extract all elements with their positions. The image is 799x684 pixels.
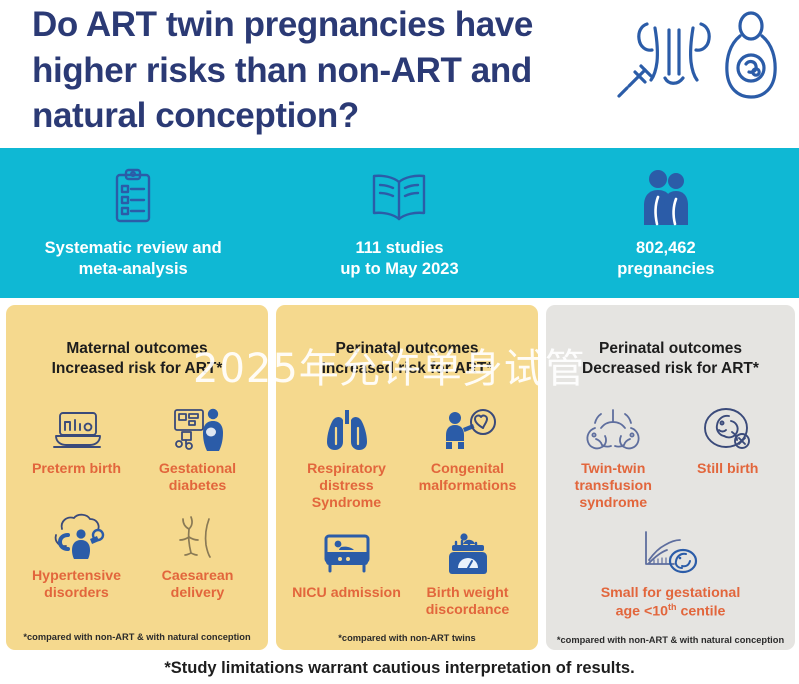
item-label: Caesarean delivery bbox=[162, 568, 234, 602]
caesarean-scar-icon bbox=[173, 509, 223, 559]
item-nicu-admission: NICU admission bbox=[286, 526, 407, 619]
open-book-icon bbox=[368, 166, 430, 228]
uterus-syringe-icon bbox=[619, 24, 709, 96]
footer-disclaimer: *Study limitations warrant cautious inte… bbox=[164, 659, 634, 678]
embryo-icon bbox=[727, 13, 775, 97]
outcome-panels: Maternal outcomes Increased risk for ART… bbox=[0, 305, 799, 650]
panel-title: Maternal outcomes Increased risk for ART… bbox=[16, 339, 258, 380]
item-label: Still birth bbox=[697, 461, 758, 478]
item-label: Twin-twin transfusion syndrome bbox=[575, 461, 652, 512]
header: Do ART twin pregnancies have higher risk… bbox=[0, 0, 799, 145]
item-label: Preterm birth bbox=[32, 461, 121, 478]
item-small-for-gestational-age: Small for gestational age <10th centile bbox=[556, 526, 785, 621]
stat-label: 802,462 pregnancies bbox=[617, 238, 714, 279]
twin-fetuses-placenta-icon bbox=[581, 402, 645, 452]
item-label: Congenital malformations bbox=[419, 461, 517, 495]
clipboard-checklist-icon bbox=[109, 166, 157, 228]
blood-pressure-pregnant-woman-icon bbox=[48, 509, 106, 559]
stat-studies-count: 111 studies up to May 2023 bbox=[266, 148, 532, 279]
glucose-monitor-pregnant-woman-icon bbox=[171, 402, 225, 452]
page-title: Do ART twin pregnancies have higher risk… bbox=[32, 2, 602, 139]
lungs-icon bbox=[321, 402, 373, 452]
stat-label: 111 studies up to May 2023 bbox=[340, 238, 458, 279]
baby-scale-icon bbox=[442, 526, 494, 576]
two-people-icon bbox=[638, 166, 694, 228]
item-birth-weight-discordance: Birth weight discordance bbox=[407, 526, 528, 619]
item-still-birth: Still birth bbox=[671, 402, 786, 512]
item-label: Small for gestational age <10th centile bbox=[601, 585, 741, 621]
stat-pregnancies-count: 802,462 pregnancies bbox=[533, 148, 799, 279]
panel-items: Preterm birth bbox=[16, 402, 258, 632]
nicu-incubator-icon bbox=[320, 526, 374, 576]
item-label: NICU admission bbox=[292, 585, 401, 602]
panel-title: Perinatal outcomes Increased risk for AR… bbox=[286, 339, 528, 380]
item-twin-twin-transfusion-syndrome: Twin-twin transfusion syndrome bbox=[556, 402, 671, 512]
footer: *Study limitations warrant cautious inte… bbox=[0, 652, 799, 684]
panel-footnote: *compared with non-ART & with natural co… bbox=[16, 632, 258, 650]
item-label: Birth weight discordance bbox=[426, 585, 510, 619]
panel-perinatal-increased: Perinatal outcomes Increased risk for AR… bbox=[276, 305, 538, 650]
item-hypertensive-disorders: Hypertensive disorders bbox=[16, 509, 137, 602]
item-gestational-diabetes: Gestational diabetes bbox=[137, 402, 258, 495]
panel-title: Perinatal outcomes Decreased risk for AR… bbox=[556, 339, 785, 380]
infographic-page: Do ART twin pregnancies have higher risk… bbox=[0, 0, 799, 684]
item-caesarean-delivery: Caesarean delivery bbox=[137, 509, 258, 602]
stillbirth-fetus-x-icon bbox=[702, 402, 754, 452]
panel-footnote: *compared with non-ART twins bbox=[286, 633, 528, 651]
item-label: Hypertensive disorders bbox=[32, 568, 121, 602]
panel-footnote: *compared with non-ART & with natural co… bbox=[556, 635, 785, 653]
item-congenital-malformations: Congenital malformations bbox=[407, 402, 528, 512]
header-icon-group bbox=[605, 8, 785, 103]
item-label: Respiratory distress Syndrome bbox=[286, 461, 407, 512]
baby-heart-icon bbox=[439, 402, 497, 452]
item-respiratory-distress-syndrome: Respiratory distress Syndrome bbox=[286, 402, 407, 512]
panel-items: Respiratory distress Syndrome bbox=[286, 402, 528, 633]
panel-maternal-increased: Maternal outcomes Increased risk for ART… bbox=[6, 305, 268, 650]
growth-chart-fetus-icon bbox=[638, 526, 704, 576]
stat-label: Systematic review and meta-analysis bbox=[45, 238, 222, 279]
incubator-icon bbox=[51, 402, 103, 452]
stats-band: Systematic review and meta-analysis 111 … bbox=[0, 148, 799, 298]
item-preterm-birth: Preterm birth bbox=[16, 402, 137, 495]
panel-perinatal-decreased: Perinatal outcomes Decreased risk for AR… bbox=[546, 305, 795, 650]
item-label: Gestational diabetes bbox=[159, 461, 236, 495]
stat-systematic-review: Systematic review and meta-analysis bbox=[0, 148, 266, 279]
panel-items: Twin-twin transfusion syndrome bbox=[556, 402, 785, 635]
